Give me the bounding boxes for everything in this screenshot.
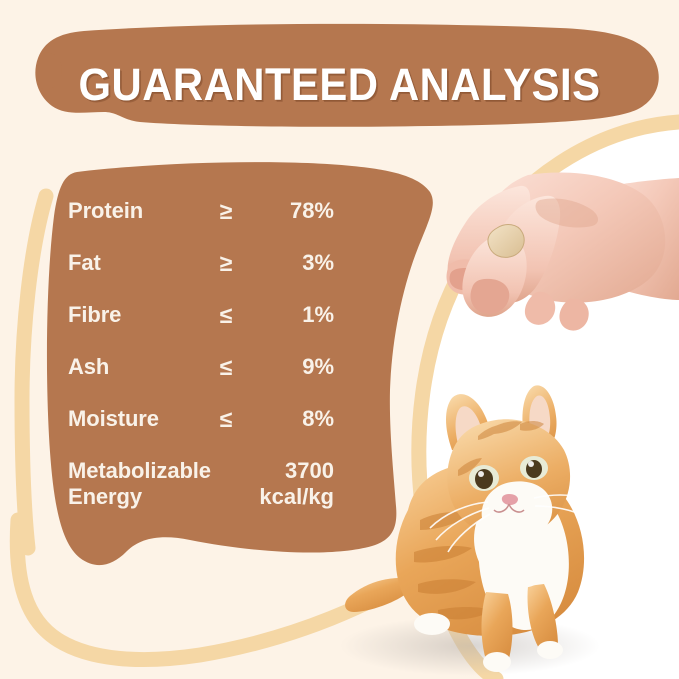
table-row: Ash ≤ 9% [68,354,334,406]
poster-canvas: GUARANTEED ANALYSIS Protein ≥ 78% Fat ≥ … [0,0,679,679]
page-title: GUARANTEED ANALYSIS [24,62,655,107]
nutrient-value: 78% [204,198,334,224]
nutrient-value: 1% [204,302,334,328]
nutrient-label: Metabolizable Energy [68,458,211,510]
nutrient-label: Protein [68,198,143,224]
nutrient-label: Fat [68,250,101,276]
nutrient-value: 3% [204,250,334,276]
title-banner: GUARANTEED ANALYSIS [0,26,679,118]
table-row: Protein ≥ 78% [68,198,334,250]
guaranteed-analysis-table: Protein ≥ 78% Fat ≥ 3% Fibre ≤ 1% Ash ≤ … [68,198,334,524]
nutrient-value: 9% [204,354,334,380]
table-row: Fat ≥ 3% [68,250,334,302]
table-row: Fibre ≤ 1% [68,302,334,354]
nutrient-label: Ash [68,354,109,380]
nutrient-label: Fibre [68,302,121,328]
table-row: Metabolizable Energy 3700 kcal/kg [68,458,334,524]
nutrient-label: Moisture [68,406,159,432]
nutrient-value: 3700 kcal/kg [204,458,334,510]
table-row: Moisture ≤ 8% [68,406,334,458]
nutrient-value: 8% [204,406,334,432]
